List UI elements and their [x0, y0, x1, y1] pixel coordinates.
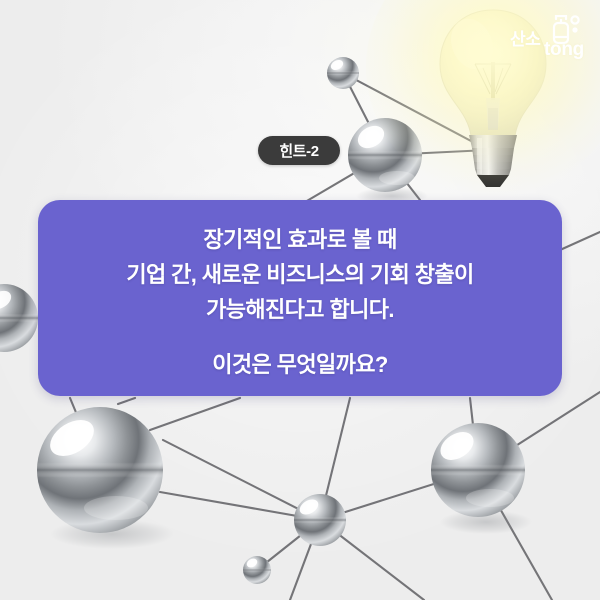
sphere-node — [243, 556, 271, 584]
logo-latin-text: tong — [544, 40, 584, 59]
quiz-card-image: 산소 tong 힌트-2 장기적인 효과로 볼 때 기업 간, 새로운 비즈니스… — [0, 0, 600, 600]
status-badge: 힌트-2 — [258, 136, 340, 165]
sphere-node — [0, 284, 38, 352]
sphere-node — [431, 423, 525, 517]
sphere-node — [294, 494, 346, 546]
quiz-body-line: 가능해진다고 합니다. — [38, 292, 562, 327]
sanso-tong-logo: 산소 tong — [508, 14, 586, 62]
logo-korean-text: 산소 — [510, 31, 540, 48]
quiz-card: 장기적인 효과로 볼 때 기업 간, 새로운 비즈니스의 기회 창출이 가능해진… — [38, 200, 562, 396]
sphere-node — [327, 57, 359, 89]
hint-badge-label: 힌트-2 — [279, 140, 318, 161]
quiz-question-text: 이것은 무엇일까요? — [38, 347, 562, 379]
sphere-node — [37, 407, 163, 533]
quiz-body-line: 기업 간, 새로운 비즈니스의 기회 창출이 — [38, 257, 562, 292]
quiz-body-text: 장기적인 효과로 볼 때 기업 간, 새로운 비즈니스의 기회 창출이 가능해진… — [38, 222, 562, 327]
quiz-body-line: 장기적인 효과로 볼 때 — [38, 222, 562, 257]
